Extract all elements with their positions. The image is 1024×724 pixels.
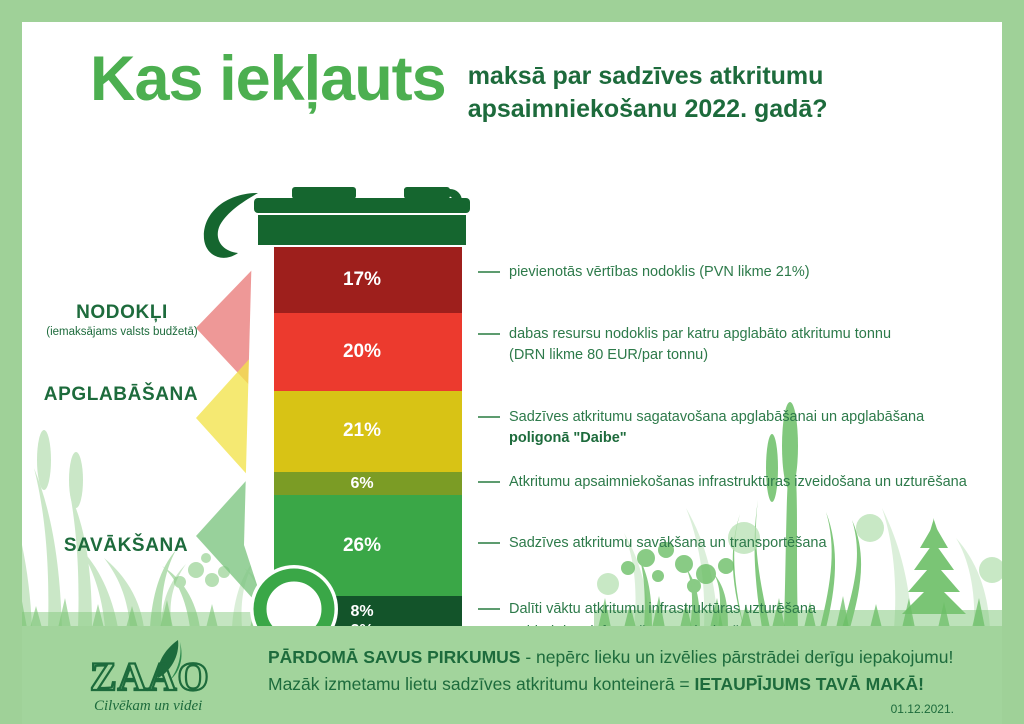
bar-segment-infra: 6%	[262, 472, 462, 495]
bar-label-separate: 8%	[350, 603, 373, 621]
annotation-landfill-bold: poligonā "Daibe"	[509, 428, 924, 449]
bar-label-infra: 6%	[350, 475, 373, 493]
connector-line-landfill	[478, 416, 500, 418]
annotation-drn-line1: dabas resursu nodoklis par katru apglabā…	[509, 326, 891, 342]
annotation-landfill-line1: Sadzīves atkritumu sagatavošana apglabāš…	[509, 409, 924, 425]
category-label-collection-title: SAVĀKŠANA	[46, 535, 206, 557]
category-label-collection: SAVĀKŠANA	[46, 535, 206, 557]
page-subtitle: maksā par sadzīves atkritumu apsaimnieko…	[468, 60, 828, 126]
annotation-infra-text: Atkritumu apsaimniekošanas infrastruktūr…	[509, 472, 967, 493]
connector-line-drn	[478, 333, 500, 335]
category-label-landfilling-title: APGLABĀŠANA	[30, 384, 212, 406]
subtitle-line-1: maksā par sadzīves atkritumu	[468, 62, 824, 90]
annotation-separate-text: Dalīti vāktu atkritumu infrastruktūras u…	[509, 599, 816, 620]
connector-line-vat	[478, 271, 500, 273]
page-title: Kas iekļauts	[90, 48, 446, 111]
annotation-separate: Dalīti vāktu atkritumu infrastruktūras u…	[478, 599, 816, 620]
bar-label-collection: 26%	[343, 535, 381, 557]
annotation-collection: Sadzīves atkritumu savākšana un transpor…	[478, 533, 827, 554]
footer-line-1-rest: - nepērc lieku un izvēlies pārstrādei de…	[520, 647, 953, 667]
footer-line-2-rest: Mazāk izmetamu lietu sadzīves atkritumu …	[268, 674, 695, 694]
waste-bin-chart: 17% 20% 21% 6% 26% 8% 2%	[208, 185, 496, 637]
connector-line-infra	[478, 481, 500, 483]
annotation-vat-text: pievienotās vērtības nodoklis (PVN likme…	[509, 262, 810, 283]
bin-lid	[208, 185, 496, 253]
poster-footer: ZAAO Cilvēkam un videi PĀRDOMĀ SAVUS PIR…	[0, 626, 1024, 724]
annotation-landfill: Sadzīves atkritumu sagatavošana apglabāš…	[478, 407, 924, 448]
category-label-taxes-title: NODOKĻI	[32, 302, 212, 324]
footer-line-2-bold: IETAUPĪJUMS TAVĀ MAKĀ!	[695, 674, 924, 694]
bar-segment-drn: 20%	[262, 313, 462, 391]
bar-label-drn: 20%	[343, 341, 381, 363]
category-label-landfilling: APGLABĀŠANA	[30, 384, 212, 406]
annotation-infra: Atkritumu apsaimniekošanas infrastruktūr…	[478, 472, 967, 493]
subtitle-line-2: apsaimniekošanu 2022. gadā?	[468, 93, 828, 126]
annotation-collection-text: Sadzīves atkritumu savākšana un transpor…	[509, 533, 827, 554]
category-label-taxes-sub: (iemaksājams valsts budžetā)	[32, 326, 212, 338]
annotation-landfill-text: Sadzīves atkritumu sagatavošana apglabāš…	[509, 407, 924, 448]
bar-segment-vat: 17%	[262, 247, 462, 313]
infographic-poster: Kas iekļauts maksā par sadzīves atkritum…	[0, 0, 1024, 724]
bar-label-landfill: 21%	[343, 420, 381, 442]
poster-canvas: Kas iekļauts maksā par sadzīves atkritum…	[22, 22, 1002, 724]
zaao-logo-tagline: Cilvēkam un videi	[94, 698, 202, 714]
annotation-drn: dabas resursu nodoklis par katru apglabā…	[478, 324, 891, 365]
annotation-vat: pievienotās vērtības nodoklis (PVN likme…	[478, 262, 810, 283]
zaao-logo: ZAAO Cilvēkam un videi	[60, 634, 260, 716]
poster-header: Kas iekļauts maksā par sadzīves atkritum…	[90, 48, 990, 126]
footer-message: PĀRDOMĀ SAVUS PIRKUMUS - nepērc lieku un…	[268, 644, 953, 698]
footer-line-1: PĀRDOMĀ SAVUS PIRKUMUS - nepērc lieku un…	[268, 644, 953, 671]
annotation-drn-line2: (DRN likme 80 EUR/par tonnu)	[509, 347, 708, 363]
footer-line-2: Mazāk izmetamu lietu sadzīves atkritumu …	[268, 671, 953, 698]
connector-line-collection	[478, 542, 500, 544]
zaao-logo-text: ZAAO	[90, 654, 210, 699]
annotation-drn-text: dabas resursu nodoklis par katru apglabā…	[509, 324, 891, 365]
footer-date: 01.12.2021.	[891, 702, 954, 716]
category-label-taxes: NODOKĻI (iemaksājams valsts budžetā)	[32, 302, 212, 338]
footer-line-1-bold: PĀRDOMĀ SAVUS PIRKUMUS	[268, 647, 520, 667]
bar-label-vat: 17%	[343, 269, 381, 291]
connector-line-separate	[478, 608, 500, 610]
bar-segment-landfill: 21%	[262, 391, 462, 472]
